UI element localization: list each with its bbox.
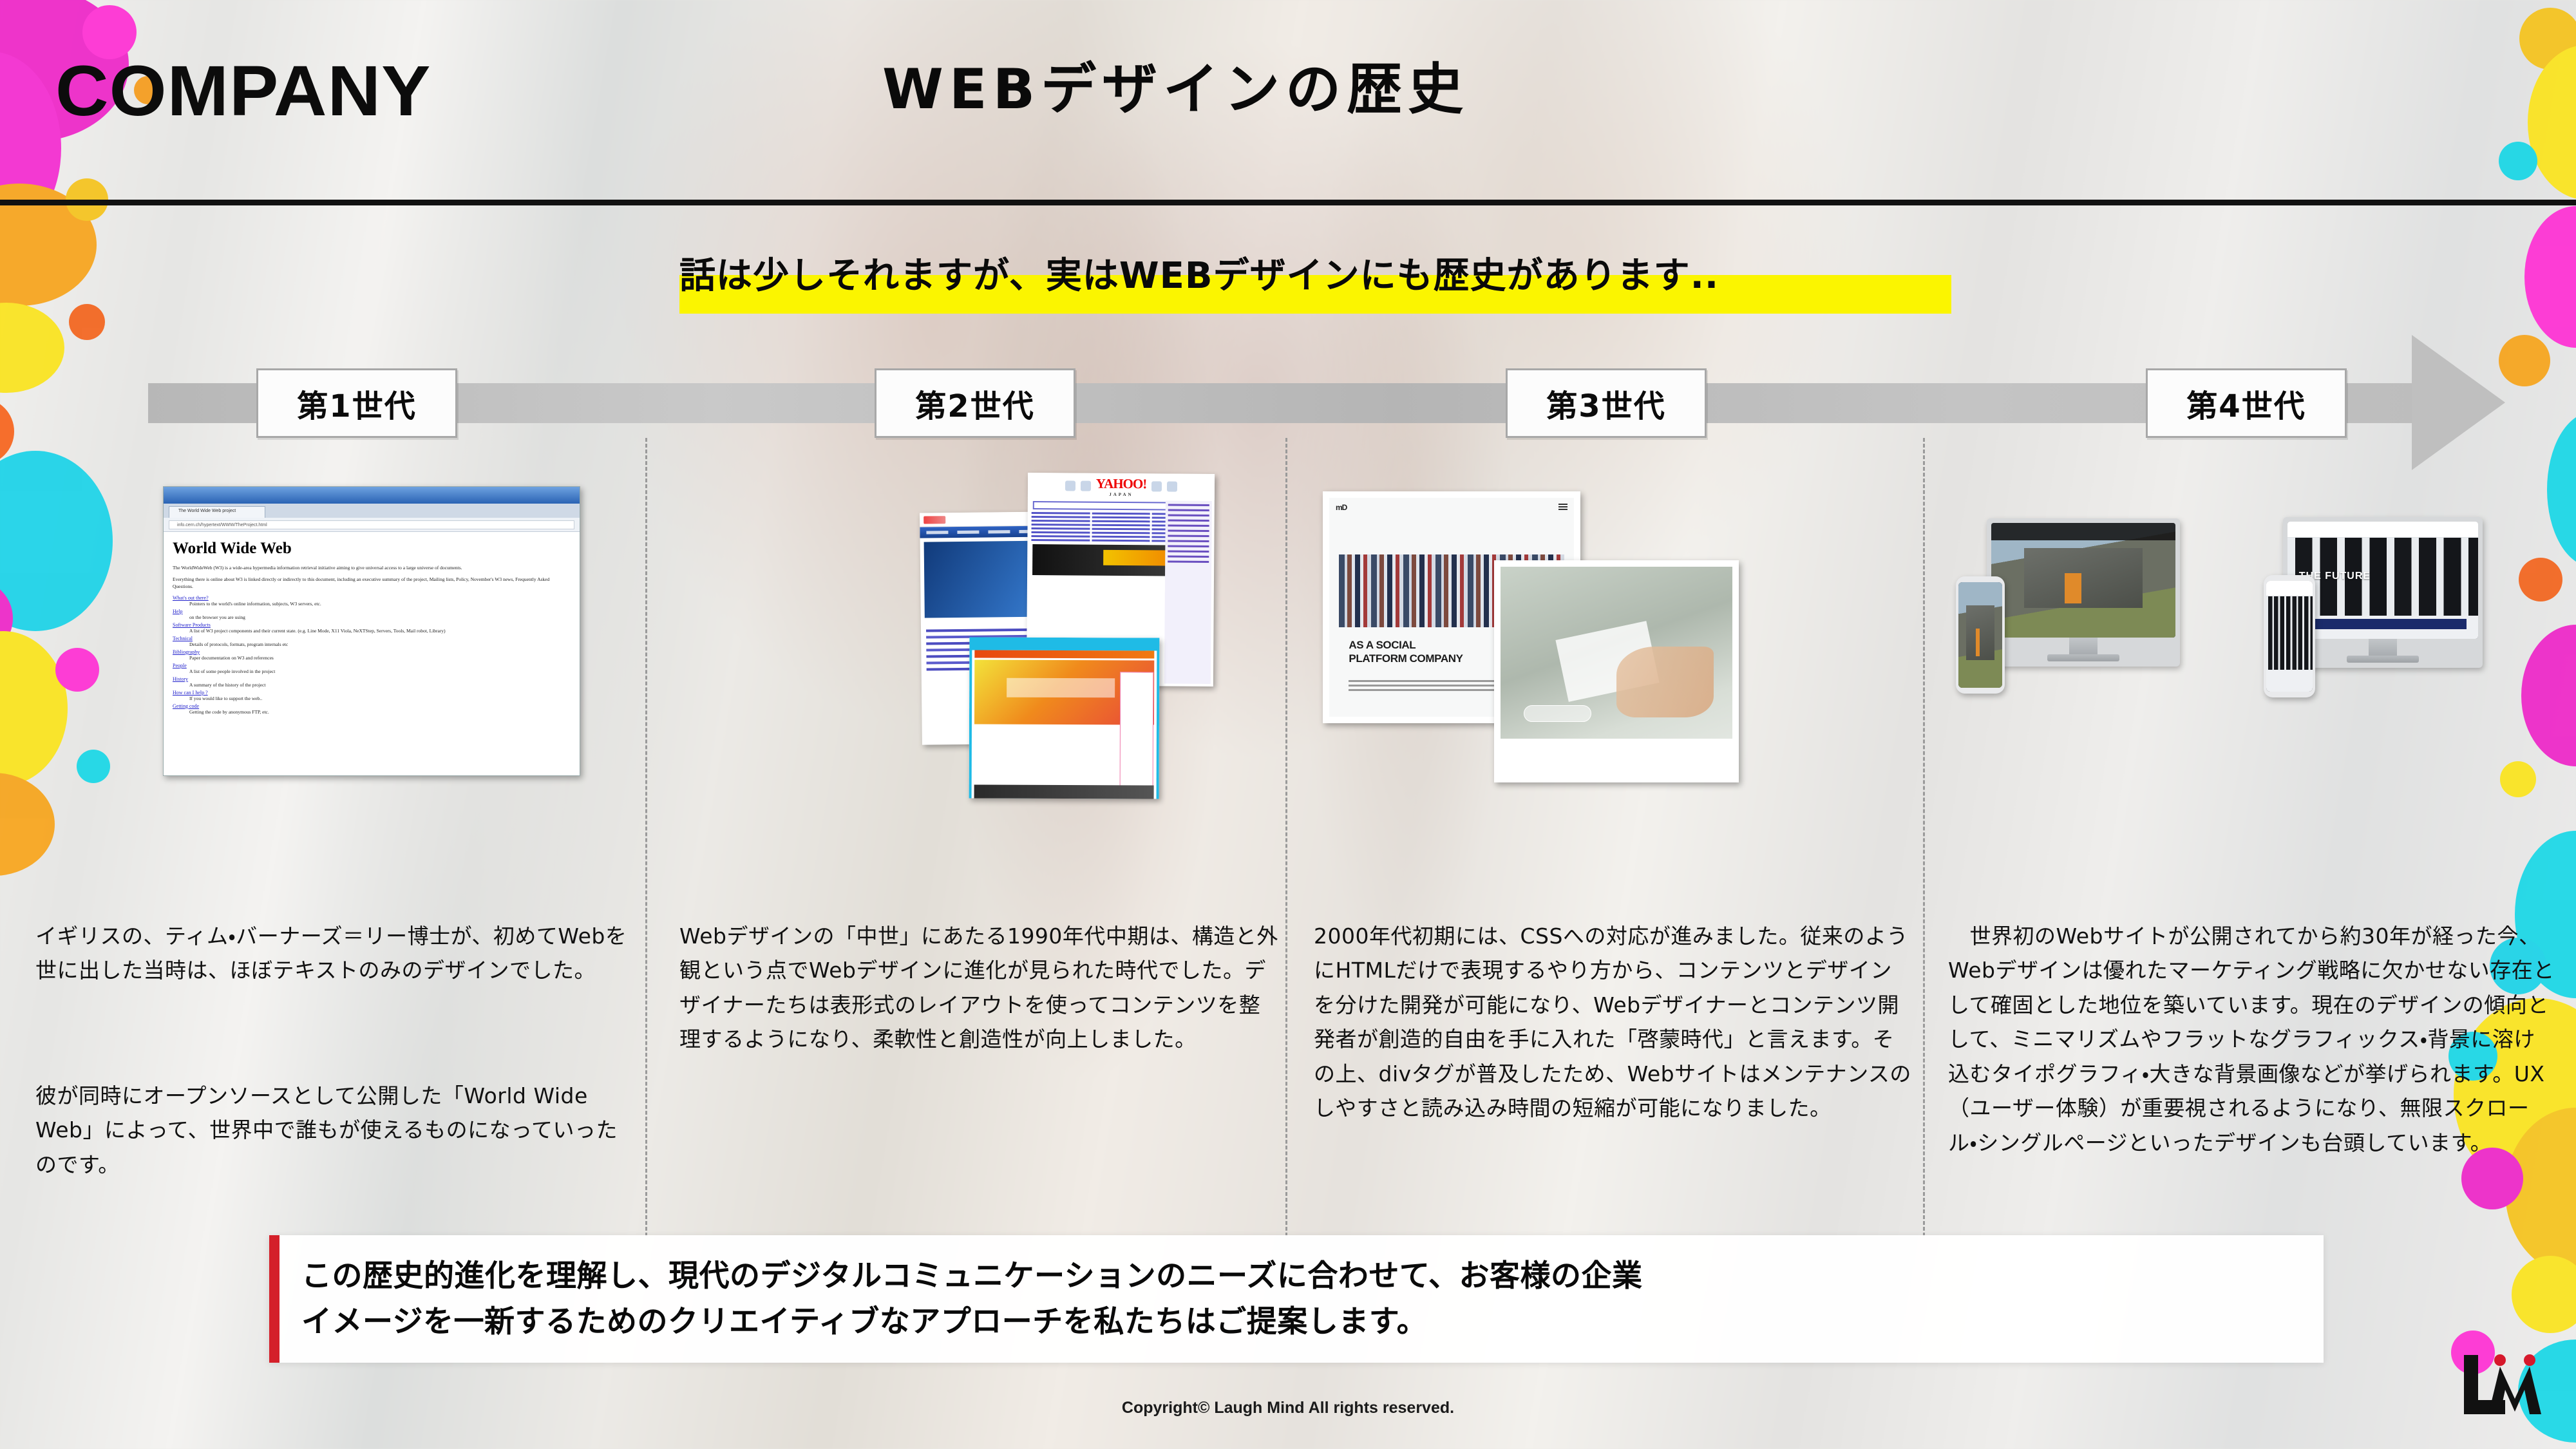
headline-line-2: PLATFORM COMPANY: [1349, 652, 1463, 665]
www-page-body: World Wide Web The WorldWideWeb (W3) is …: [164, 532, 580, 775]
www-entry-term: Software Products: [173, 622, 571, 628]
slide-root: COMPANY WEBデザインの歴史 話は少しそれますが、実はWEBデザインにも…: [0, 0, 2576, 1449]
generation-1-description: イギリスの、ティム・バーナーズ＝リー博士が、初めてWebを世に出した当時は、ほぼ…: [35, 850, 634, 1251]
timeline-bar: [148, 383, 2421, 423]
conclusion-box: この歴史的進化を理解し、現代のデジタルコミュニケーションのニーズに合わせて、お客…: [269, 1235, 2324, 1363]
monitor-neck: [2069, 638, 2098, 654]
generation-2-description: Webデザインの「中世」にあたる1990年代中期は、構造と外観という点でWebデ…: [679, 850, 1278, 1126]
www-entry-term: Technical: [173, 636, 571, 641]
www-intro-paragraph-2: Everything there is online about W3 is l…: [173, 576, 571, 591]
phone-screen-2: [2266, 581, 2313, 692]
yahoo-logo: YAHOO! JAPAN: [1096, 475, 1147, 497]
generation-4-description: 世界初のWebサイトが公開されてから約30年が経った今、Webデザインは優れたマ…: [1948, 850, 2557, 1229]
local-portal-frame: [969, 637, 1160, 799]
yahoo-service-icon: [1065, 480, 1075, 491]
site-fashion-mobile-nav: [2266, 581, 2313, 596]
site-architecture: [1991, 523, 2175, 638]
social-site-subtext: [1349, 677, 1501, 694]
mock-modern-hero-site: [1494, 560, 1739, 782]
paragraph: Webデザインの「中世」にあたる1990年代中期は、構造と外観という点でWebデ…: [679, 919, 1278, 1057]
www-entry-desc: A summary of the history of the project: [189, 682, 571, 688]
www-entry-term: Bibliography: [173, 649, 571, 655]
monitor-neck: [2369, 639, 2397, 656]
social-site-headline: AS A SOCIAL PLATFORM COMPANY: [1349, 638, 1463, 666]
copyright-text: Copyright© Laugh Mind All rights reserve…: [0, 1399, 2576, 1417]
monitor-screen-1: [1991, 523, 2175, 638]
monitor-foot: [2047, 654, 2119, 661]
monitor-foot: [2347, 656, 2419, 663]
slide-header: COMPANY WEBデザインの歴史: [0, 0, 2576, 205]
mock-local-portal: [969, 637, 1160, 799]
header-divider-rule: [0, 200, 2576, 205]
www-entry-term: People: [173, 663, 571, 668]
site-architecture-nav: [1991, 523, 2175, 540]
www-entry-term: Help: [173, 609, 571, 614]
yahoo-header: YAHOO! JAPAN: [1028, 473, 1215, 500]
yahoo-right-rail: [1164, 500, 1212, 683]
column-divider-1: [645, 438, 647, 1236]
headline-line-1: AS A SOCIAL: [1349, 639, 1416, 651]
modern-site-cta-button: [1524, 705, 1591, 722]
browser-tabstrip: The World Wide Web project: [164, 504, 580, 518]
mock-www-browser-window: The World Wide Web project info.cern.ch/…: [163, 486, 580, 776]
yahoo-service-icon: [1167, 482, 1177, 492]
social-site-logo: mD: [1336, 503, 1347, 512]
paragraph: イギリスの、ティム・バーナーズ＝リー博士が、初めてWebを世に出した当時は、ほぼ…: [35, 919, 634, 988]
generation-3-description: 2000年代初期には、CSSへの対応が進みました。従来のようにHTMLだけで表現…: [1314, 850, 1913, 1195]
www-entry-desc: Details of protocols, formats, program i…: [189, 641, 571, 647]
browser-url-text: info.cern.ch/hypertext/WWW/TheProject.ht…: [169, 520, 574, 529]
www-entry-term: Getting code: [173, 703, 571, 709]
subtitle-text: 話は少しそれますが、実はWEBデザインにも歴史があります..: [679, 247, 1719, 299]
generation-chip-4: 第4世代: [2146, 368, 2347, 438]
modern-site-footer-strip: [1501, 739, 1732, 777]
browser-titlebar: [164, 487, 580, 504]
column-divider-3: [1923, 438, 1925, 1236]
site-fashion-mobile-models: [2266, 596, 2313, 670]
mock-desktop-monitor-1: [1987, 518, 2180, 667]
www-entry-desc: Paper documentation on W3 and references: [189, 655, 571, 661]
yahoo-service-icon: [1151, 481, 1162, 491]
paragraph: 2000年代初期には、CSSへの対応が進みました。従来のようにHTMLだけで表現…: [1314, 919, 1913, 1126]
conclusion-text: この歴史的進化を理解し、現代のデジタルコミュニケーションのニーズに合わせて、お客…: [279, 1253, 1656, 1345]
page-title: WEBデザインの歴史: [882, 44, 1469, 124]
yahoo-logo-text: YAHOO!: [1096, 475, 1147, 491]
yahoo-service-icon: [1081, 481, 1091, 491]
yahoo-logo-sub: JAPAN: [1096, 491, 1146, 497]
timeline-arrow-icon: [2412, 335, 2505, 470]
browser-tab: The World Wide Web project: [169, 506, 265, 518]
local-portal-inner: [972, 650, 1157, 799]
www-entry-desc: Pointers to the world's online informati…: [189, 601, 571, 607]
site-architecture-mobile: [1958, 582, 2002, 688]
phone-screen-1: [1958, 582, 2002, 688]
column-divider-2: [1285, 438, 1287, 1236]
company-name: COMPANY: [55, 50, 431, 132]
browser-urlbar: info.cern.ch/hypertext/WWW/TheProject.ht…: [164, 518, 580, 532]
www-entry-term: What's out there?: [173, 595, 571, 601]
mock-phone-2: [2264, 575, 2315, 697]
www-entry-desc: on the browser you are using: [189, 614, 571, 620]
www-entry-desc: If you would like to support the web..: [189, 696, 571, 701]
subtitle-block: 話は少しそれますが、実はWEBデザインにも歴史があります..: [679, 247, 1719, 299]
site-fashion: THE FUTURE: [2287, 522, 2478, 639]
www-entry-desc: A list of W3 project components and thei…: [189, 628, 571, 634]
www-intro-paragraph: The WorldWideWeb (W3) is a wide-area hyp…: [173, 565, 571, 572]
modern-site-hand-photo: [1616, 647, 1714, 718]
site-fashion-mobile: [2266, 581, 2313, 692]
monitor-screen-2: THE FUTURE: [2287, 522, 2478, 639]
local-portal-footer: [974, 785, 1154, 799]
local-portal-navbar: [974, 650, 1154, 659]
www-entry-list: What's out there? Pointers to the world'…: [173, 595, 571, 715]
local-portal-calendar: [1120, 672, 1154, 793]
modern-site-inner: [1501, 567, 1732, 776]
paragraph: 世界初のWebサイトが公開されてから約30年が経った今、Webデザインは優れたマ…: [1948, 919, 2557, 1160]
www-entry-desc: Getting the code by anonymous FTP, etc.: [189, 709, 571, 715]
www-page-heading: World Wide Web: [173, 540, 571, 558]
www-entry-term: How can I help ?: [173, 690, 571, 696]
www-entry-desc: A list of some people involved in the pr…: [189, 668, 571, 674]
www-entry-term: History: [173, 676, 571, 682]
mock-phone-1: [1956, 576, 2005, 694]
site-fashion-nav: [2287, 522, 2478, 538]
generation-chip-3: 第3世代: [1506, 368, 1707, 438]
portal-logo-icon: [923, 516, 945, 524]
paragraph: 彼が同時にオープンソースとして公開した「World Wide Web」によって、…: [35, 1079, 634, 1182]
site-fashion-cta-bar: [2299, 619, 2467, 629]
laugh-mind-logo: [2455, 1347, 2552, 1425]
hamburger-menu-icon: [1558, 504, 1567, 510]
generation-chip-2: 第2世代: [875, 368, 1075, 438]
generation-chip-1: 第1世代: [256, 368, 457, 438]
